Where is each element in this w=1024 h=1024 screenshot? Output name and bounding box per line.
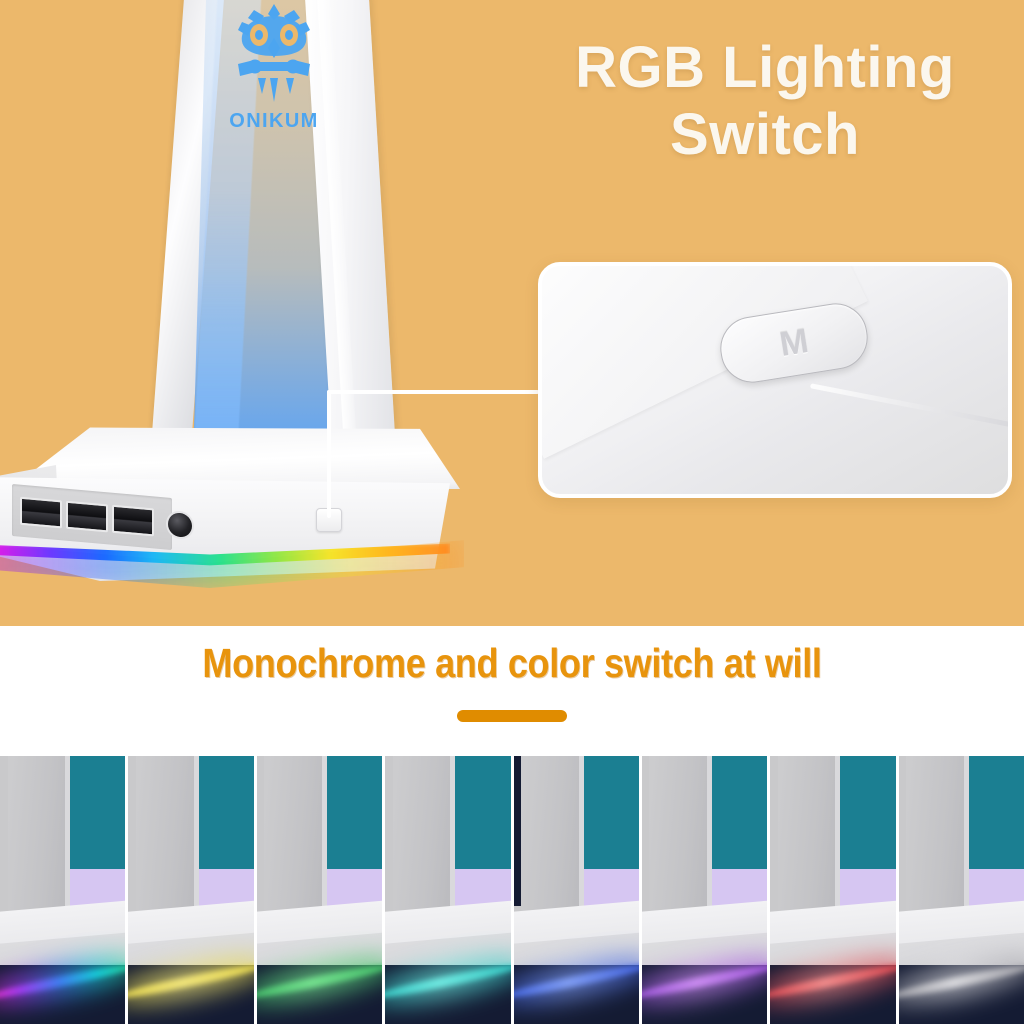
thumbnail-red[interactable]	[770, 756, 895, 1024]
thumb-stand-arm-edge	[194, 756, 199, 922]
detail-seam-line	[810, 383, 1012, 438]
thumb-stand-arm	[778, 756, 841, 922]
usb-port-3	[112, 505, 154, 537]
thumbnail-yellow[interactable]	[128, 756, 253, 1024]
thumb-bg-teal	[966, 756, 1024, 879]
thumb-bg-teal	[453, 756, 511, 879]
headline-line-1: RGB Lighting	[575, 35, 955, 100]
thumbnail-purple[interactable]	[642, 756, 767, 1024]
thumb-stand-arm	[906, 756, 969, 922]
thumb-stand-arm-edge	[65, 756, 70, 922]
thumbnail-rainbow-multicolor[interactable]	[0, 756, 125, 1024]
thumb-stand-arm-edge	[707, 756, 712, 922]
zoom-detail-panel: M	[538, 262, 1012, 498]
thumb-stand-arm	[136, 756, 199, 922]
thumb-stand-arm	[649, 756, 712, 922]
thumb-bg-teal	[324, 756, 382, 879]
thumb-stand-arm	[393, 756, 456, 922]
thumb-bg-teal	[581, 756, 639, 879]
callout-line-vertical	[327, 390, 331, 518]
thumb-bg-teal	[838, 756, 896, 879]
headset-stand-product: ONIKUM	[0, 0, 470, 626]
thumbnail-blue[interactable]	[514, 756, 639, 1024]
thumb-stand-arm-edge	[450, 756, 455, 922]
thumb-bg-teal	[68, 756, 126, 879]
thumb-stand-arm-edge	[964, 756, 969, 922]
thumb-bg-teal	[196, 756, 254, 879]
thumb-stand-arm-edge	[835, 756, 840, 922]
hero-section: RGB Lighting Switch	[0, 0, 1024, 626]
subtitle-text: Monochrome and color switch at will	[61, 640, 962, 687]
thumb-stand-arm	[521, 756, 584, 922]
subtitle-band: Monochrome and color switch at will	[0, 626, 1024, 756]
product-marketing-image: RGB Lighting Switch	[0, 0, 1024, 1024]
thumbnail-cyan[interactable]	[385, 756, 510, 1024]
divider-bar	[457, 710, 567, 722]
thumb-stand-arm	[8, 756, 71, 922]
stand-base	[0, 425, 460, 585]
thumbnail-white-off[interactable]	[899, 756, 1024, 1024]
page-title: RGB Lighting Switch	[520, 34, 1010, 169]
thumb-stand-arm	[264, 756, 327, 922]
thumb-bg-teal	[710, 756, 768, 879]
callout-line-horizontal	[327, 390, 539, 394]
headline-line-2: Switch	[520, 101, 1010, 168]
color-variant-strip	[0, 756, 1024, 1024]
thumb-stand-arm-edge	[579, 756, 584, 922]
usb-port-2	[66, 501, 108, 533]
usb-port-1	[20, 497, 62, 529]
thumbnail-green[interactable]	[257, 756, 382, 1024]
thumb-stand-arm-edge	[322, 756, 327, 922]
